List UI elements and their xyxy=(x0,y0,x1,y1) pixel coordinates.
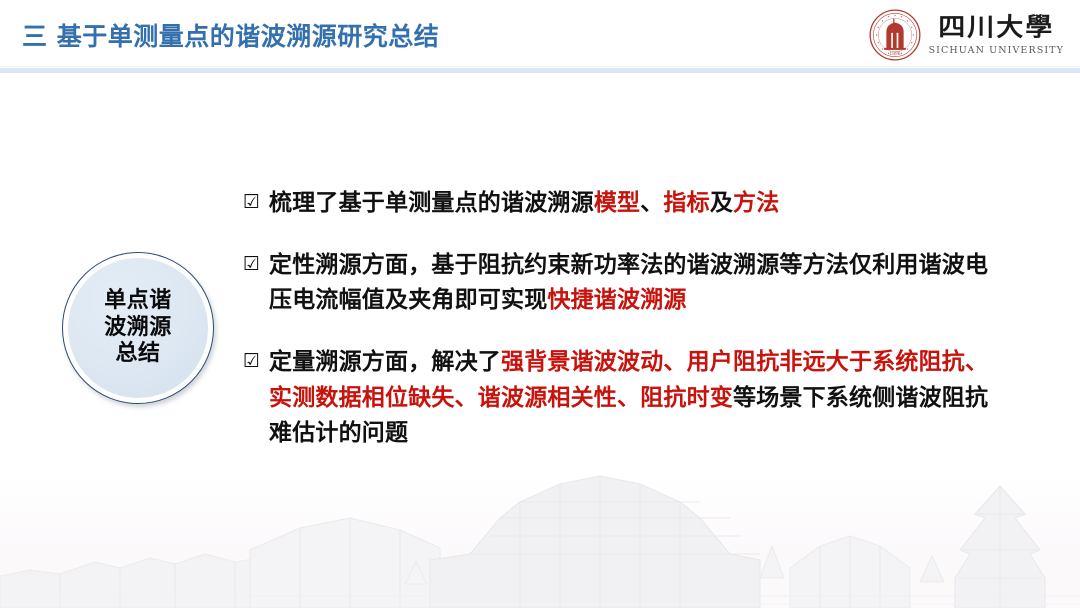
summary-badge-line-1: 单点谐 xyxy=(104,288,172,315)
summary-badge-label: 单点谐 波溯源 总结 xyxy=(62,252,214,404)
bullet-run: 梳理了基于单测量点的谐波溯源 xyxy=(269,190,594,216)
checked-box-icon: ☑ xyxy=(243,345,269,378)
header-divider xyxy=(0,68,1080,73)
summary-badge-line-3: 总结 xyxy=(115,341,160,368)
checked-box-icon: ☑ xyxy=(243,186,269,219)
logo-name-en: SICHUAN UNIVERSITY xyxy=(929,46,1064,56)
bullet-item-3: ☑ 定量溯源方面，解决了强背景谐波波动、用户阻抗非远大于系统阻抗、实测数据相位缺… xyxy=(243,345,995,452)
bullet-run: 、 xyxy=(640,190,663,216)
bullet-item-1: ☑ 梳理了基于单测量点的谐波溯源模型、指标及方法 xyxy=(243,186,995,222)
bullet-run-highlight: 方法 xyxy=(733,190,779,216)
logo-wordmark: 四川大學 SICHUAN UNIVERSITY xyxy=(929,14,1064,56)
bullet-text-1: 梳理了基于单测量点的谐波溯源模型、指标及方法 xyxy=(269,186,995,222)
bullet-run-highlight: 快捷谐波溯源 xyxy=(547,287,686,313)
page-title: 三 基于单测量点的谐波溯源研究总结 xyxy=(22,17,439,53)
bullet-run: 定量溯源方面，解决了 xyxy=(269,349,501,375)
university-logo: 1896 四川大學 SICHUAN UNIVERSITY xyxy=(868,6,1064,64)
bullet-run-highlight: 指标 xyxy=(663,190,709,216)
bullet-list: ☑ 梳理了基于单测量点的谐波溯源模型、指标及方法 ☑ 定性溯源方面，基于阻抗约束… xyxy=(243,186,995,452)
sichuan-university-seal-icon: 1896 xyxy=(868,8,922,62)
bullet-item-2: ☑ 定性溯源方面，基于阻抗约束新功率法的谐波溯源等方法仅利用谐波电压电流幅值及夹… xyxy=(243,248,995,319)
bullet-text-3: 定量溯源方面，解决了强背景谐波波动、用户阻抗非远大于系统阻抗、实测数据相位缺失、… xyxy=(269,345,995,452)
summary-badge-line-2: 波溯源 xyxy=(104,315,172,342)
bullet-text-2: 定性溯源方面，基于阻抗约束新功率法的谐波溯源等方法仅利用谐波电压电流幅值及夹角即… xyxy=(269,248,995,319)
architecture-watermark-icon xyxy=(0,458,1080,608)
slide-header: 三 基于单测量点的谐波溯源研究总结 xyxy=(0,0,1080,72)
slide-canvas: 三 基于单测量点的谐波溯源研究总结 xyxy=(0,0,1080,608)
checked-box-icon: ☑ xyxy=(243,248,269,281)
logo-name-cn: 四川大學 xyxy=(938,15,1054,40)
bullet-run: 及 xyxy=(710,190,733,216)
bottom-gradient-tint xyxy=(0,478,1080,608)
summary-badge: 单点谐 波溯源 总结 xyxy=(62,252,214,404)
bullet-run-highlight: 模型 xyxy=(594,190,640,216)
header-divider-thin xyxy=(0,66,1080,67)
svg-text:1896: 1896 xyxy=(889,52,900,57)
